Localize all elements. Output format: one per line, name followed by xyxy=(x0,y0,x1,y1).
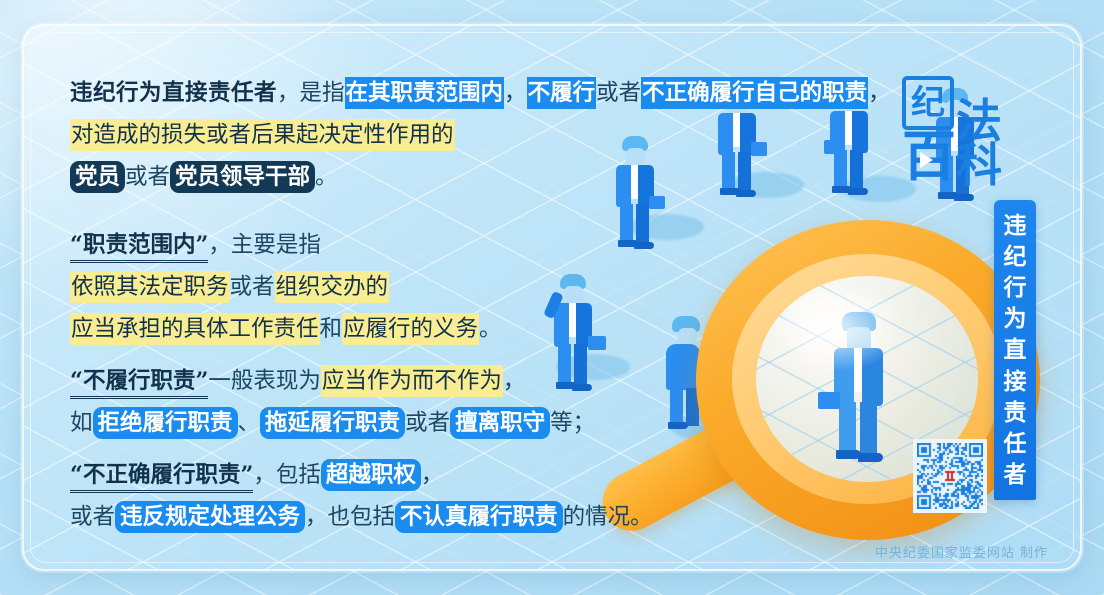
text-run-uline2: “不履行职责” xyxy=(70,368,208,399)
text-run-plain: ，也包括 xyxy=(305,504,395,530)
text-run-hl-yellow: 组织交办的 xyxy=(275,271,390,303)
text-run-hl-navy: 党员领导干部 xyxy=(170,161,315,193)
paragraph-improper-performance: “不正确履行职责”，包括超越职权，或者违反规定处理公务，也包括不认真履行职责的情… xyxy=(70,454,730,538)
vbanner-char: 纪 xyxy=(1004,245,1027,268)
vbanner-char: 为 xyxy=(1004,307,1027,330)
text-line: “职责范围内”，主要是指 xyxy=(70,224,730,266)
text-run-hl-pill: 超越职权 xyxy=(321,459,421,491)
text-run-plain: 或者 xyxy=(125,164,170,190)
vbanner-char: 直 xyxy=(1004,338,1027,361)
text-run-hl-pill: 拖延履行职责 xyxy=(260,407,405,439)
text-run-plain: ，包括 xyxy=(253,462,321,488)
text-run-plain: 、 xyxy=(238,410,261,436)
text-line: “不正确履行职责”，包括超越职权， xyxy=(70,454,730,496)
text-run-hl-yellow: 对造成的损失或者后果起决定性作用的 xyxy=(70,119,455,151)
text-run-plain: 一般表现为 xyxy=(208,368,321,394)
infographic-canvas: 纪 百 法 科 违 纪 行 为 直 接 责 任 者 中央纪委国家监委网站 制作 … xyxy=(0,0,1104,595)
text-run-plain: 。 xyxy=(315,164,338,190)
text-run-plain: 。 xyxy=(479,316,502,342)
paragraph-scope-of-duty: “职责范围内”，主要是指依照其法定职务或者组织交办的应当承担的具体工作责任和应履… xyxy=(70,224,730,350)
text-run-hl-yellow: 应当承担的具体工作责任 xyxy=(70,313,320,345)
vbanner-char: 行 xyxy=(1004,276,1027,299)
lens-flare xyxy=(766,282,906,372)
text-run-plain: ， xyxy=(504,80,527,106)
text-run-plain: 或者 xyxy=(230,274,275,300)
text-run-plain: 或者 xyxy=(70,504,115,530)
text-run-hl-yellow: 应当作为而不作为 xyxy=(321,365,503,397)
text-run-plain: 或者 xyxy=(405,410,450,436)
text-run-plain: 和 xyxy=(320,316,343,342)
qr-code[interactable] xyxy=(913,439,987,513)
content-card: 纪 百 法 科 违 纪 行 为 直 接 责 任 者 中央纪委国家监委网站 制作 … xyxy=(22,24,1082,571)
text-run-plain: ， xyxy=(868,80,891,106)
text-line: 或者违反规定处理公务，也包括不认真履行职责的情况。 xyxy=(70,496,730,538)
paragraph-definition: 违纪行为直接责任者，是指在其职责范围内，不履行或者不正确履行自己的职责，对造成的… xyxy=(70,72,730,198)
vbanner-char: 任 xyxy=(1004,432,1027,455)
text-run-uline2: “不正确履行职责” xyxy=(70,462,253,493)
paragraph-failure-to-perform: “不履行职责”一般表现为应当作为而不作为，如拒绝履行职责、拖延履行职责或者擅离职… xyxy=(70,360,730,444)
text-run-hl-yellow: 应履行的义务 xyxy=(342,313,479,345)
vbanner-char: 责 xyxy=(1004,401,1027,424)
footer-credit: 中央纪委国家监委网站 制作 xyxy=(875,542,1048,561)
text-line: 应当承担的具体工作责任和应履行的义务。 xyxy=(70,308,730,350)
magnifier-ring xyxy=(696,220,1040,540)
text-run-plain: ，主要是指 xyxy=(208,232,321,258)
text-run-plain: 等； xyxy=(550,410,595,436)
text-run-hl-blue: 不正确履行自己的职责 xyxy=(641,77,868,109)
text-run-plain: 或者 xyxy=(596,80,641,106)
qr-code-canvas xyxy=(917,443,983,509)
text-run-hl-blue: 不履行 xyxy=(527,77,597,109)
logo-char-ke: 科 xyxy=(956,142,1002,188)
vbanner-char: 违 xyxy=(1004,214,1027,237)
text-run-hl-pill: 违反规定处理公务 xyxy=(115,501,305,533)
text-run-hl-pill: 擅离职守 xyxy=(450,407,550,439)
text-run-hl-pill: 不认真履行职责 xyxy=(395,501,563,533)
play-icon xyxy=(920,152,933,168)
brand-logo: 纪 百 法 科 xyxy=(898,76,1010,194)
vbanner-char: 者 xyxy=(1004,463,1027,486)
logo-char-ji: 纪 xyxy=(902,76,954,130)
text-run-hl-pill: 拒绝履行职责 xyxy=(93,407,238,439)
vbanner-char: 接 xyxy=(1004,370,1027,393)
text-run-bold: 违纪行为直接责任者 xyxy=(70,80,277,106)
text-line: 如拒绝履行职责、拖延履行职责或者擅离职守等； xyxy=(70,402,730,444)
text-line: “不履行职责”一般表现为应当作为而不作为， xyxy=(70,360,730,402)
text-run-uline2: “职责范围内” xyxy=(70,232,208,263)
text-run-plain: ， xyxy=(421,462,444,488)
text-run-plain: ， xyxy=(503,368,526,394)
text-run-plain: ，是指 xyxy=(277,80,345,106)
text-line: 违纪行为直接责任者，是指在其职责范围内，不履行或者不正确履行自己的职责， xyxy=(70,72,730,114)
text-run-plain: 的情况。 xyxy=(563,504,653,530)
text-line: 党员或者党员领导干部。 xyxy=(70,156,730,198)
text-line: 对造成的损失或者后果起决定性作用的 xyxy=(70,114,730,156)
text-run-hl-navy: 党员 xyxy=(70,161,125,193)
text-run-plain: 如 xyxy=(70,410,93,436)
text-run-hl-yellow: 依照其法定职务 xyxy=(70,271,230,303)
body-text: 违纪行为直接责任者，是指在其职责范围内，不履行或者不正确履行自己的职责，对造成的… xyxy=(70,72,730,548)
vertical-title-banner: 违 纪 行 为 直 接 责 任 者 xyxy=(994,200,1036,500)
text-run-hl-blue: 在其职责范围内 xyxy=(345,77,505,109)
text-line: 依照其法定职务或者组织交办的 xyxy=(70,266,730,308)
